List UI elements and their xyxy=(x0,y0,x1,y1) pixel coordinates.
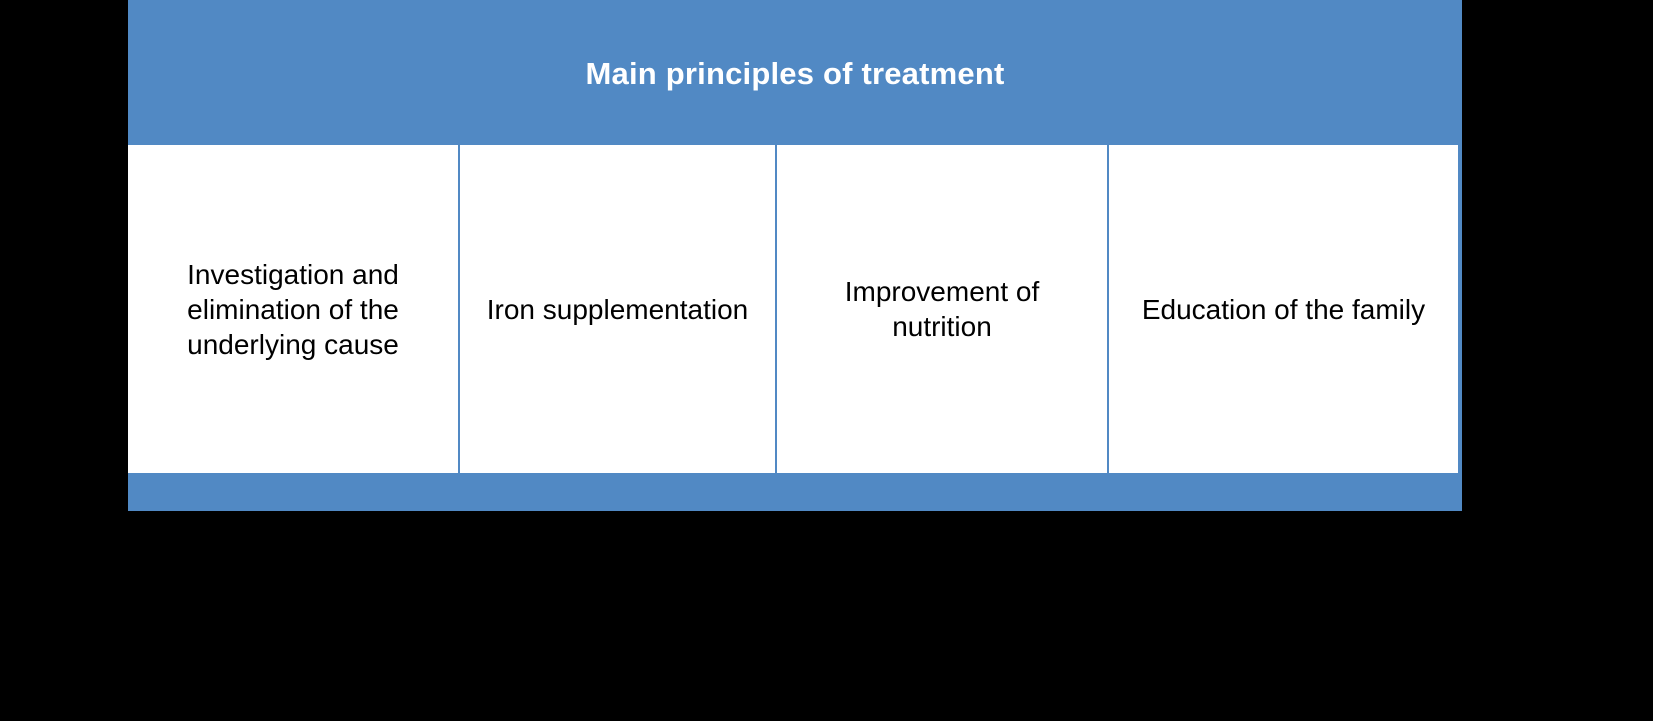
diagram-cell-label: Improvement of nutrition xyxy=(845,274,1040,344)
smartart-diagram-panel: Main principles of treatment Investigati… xyxy=(128,0,1462,511)
diagram-bottom-band xyxy=(128,473,1462,511)
diagram-cell-iron-supplementation[interactable]: Iron supplementation xyxy=(460,145,777,473)
diagram-cell-investigation[interactable]: Investigation and elimination of the und… xyxy=(128,145,460,473)
diagram-cell-label: Investigation and elimination of the und… xyxy=(187,257,399,362)
diagram-cell-label: Education of the family xyxy=(1142,292,1425,327)
slide-canvas: Main principles of treatment Investigati… xyxy=(0,0,1653,721)
diagram-cell-row: Investigation and elimination of the und… xyxy=(128,145,1460,473)
diagram-cell-label: Iron supplementation xyxy=(487,292,749,327)
diagram-title-band: Main principles of treatment xyxy=(128,0,1462,152)
page-title: Main principles of treatment xyxy=(586,57,1005,91)
diagram-cell-improvement-of-nutrition[interactable]: Improvement of nutrition xyxy=(777,145,1109,473)
diagram-cell-education-of-the-family[interactable]: Education of the family xyxy=(1109,145,1460,473)
